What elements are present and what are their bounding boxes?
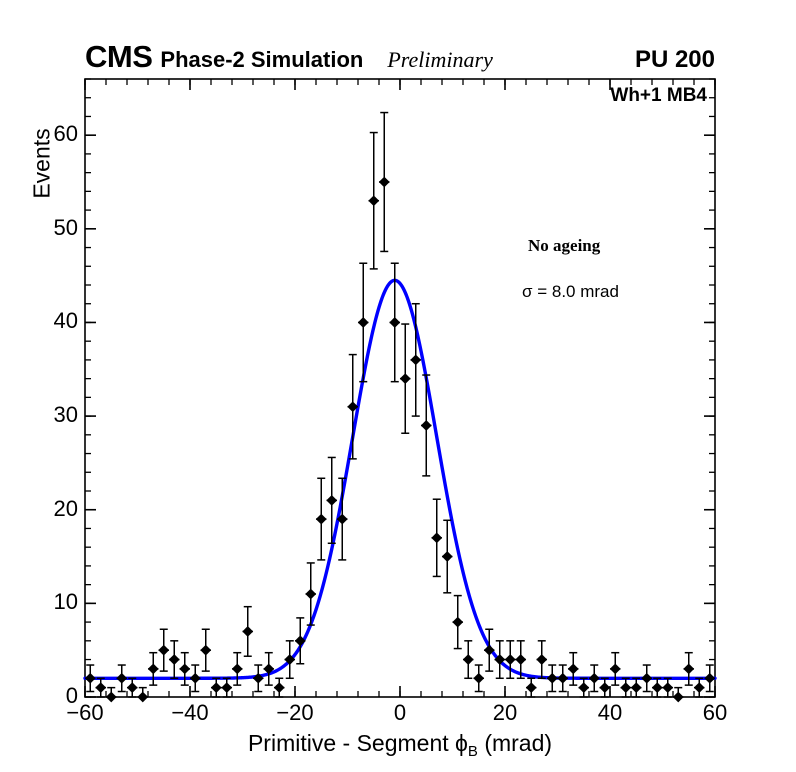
y-tick-label: 40: [18, 308, 78, 334]
ageing-label: No ageing: [528, 236, 600, 256]
y-tick-label: 30: [18, 402, 78, 428]
x-tick-label: 20: [470, 700, 540, 726]
y-tick-label: 60: [18, 121, 78, 147]
resolution-label: σ = 8.0 mrad: [522, 282, 619, 302]
x-tick-label: 0: [365, 700, 435, 726]
y-tick-label: 20: [18, 496, 78, 522]
x-tick-label: 60: [680, 700, 750, 726]
x-tick-label: 40: [575, 700, 645, 726]
annotation-layer: Wh+1 MB4 No ageing σ = 8.0 mrad: [85, 79, 715, 697]
x-tick-label: −20: [260, 700, 330, 726]
y-tick-label: 50: [18, 215, 78, 241]
chamber-label: Wh+1 MB4: [610, 85, 707, 107]
y-tick-label: 10: [18, 589, 78, 615]
y-tick-label: 0: [18, 683, 78, 709]
x-tick-label: −40: [155, 700, 225, 726]
plot-canvas: CMS Phase-2 Simulation Preliminary PU 20…: [0, 0, 796, 772]
